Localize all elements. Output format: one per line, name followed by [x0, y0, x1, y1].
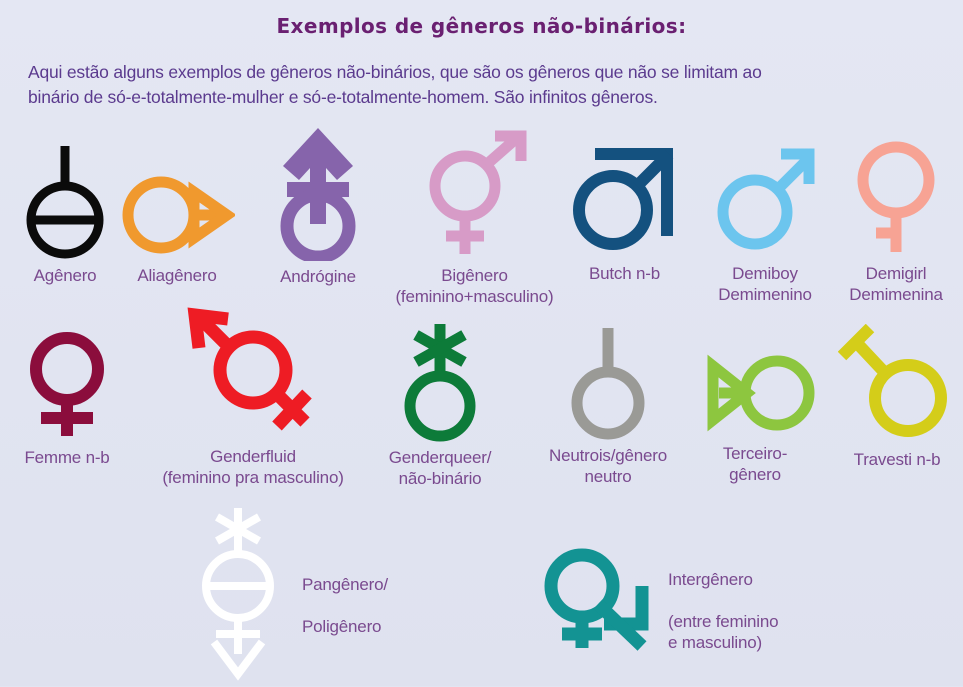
- gender-item-butch-nb: Butch n-b: [562, 140, 687, 284]
- gender-item-neutrois: Neutrois/gênero neutro: [528, 322, 688, 487]
- gender-sublabel-genderqueer: não-binário: [399, 468, 482, 489]
- gender-label-pangenero-line1: Pangênero/: [302, 575, 388, 594]
- gender-sublabel-demigirl: Demimenina: [849, 284, 942, 305]
- gender-item-demiboy: Demiboy Demimenino: [700, 140, 830, 305]
- infographic-page: Exemplos de gêneros não-binários: Aqui e…: [0, 0, 963, 686]
- gender-label-neutrois: Neutrois/gênero: [549, 445, 667, 466]
- gender-sublabel-neutrois: neutro: [584, 466, 631, 487]
- neutrois-symbol: [563, 322, 653, 445]
- gender-label-genderqueer: Genderqueer/: [389, 447, 492, 468]
- gender-item-genderqueer: Genderqueer/ não-binário: [370, 322, 510, 489]
- agender-symbol: [19, 140, 111, 265]
- femme-symbol: [22, 326, 112, 447]
- gender-label-demigirl: Demigirl: [866, 263, 927, 284]
- gender-label-intergenero-sub: (entre feminino e masculino): [668, 612, 778, 652]
- gender-label-femme-nb: Femme n-b: [24, 447, 109, 468]
- gender-item-terceiro-genero: Terceiro- gênero: [690, 340, 820, 485]
- gender-label-demiboy: Demiboy: [732, 263, 798, 284]
- gender-sublabel-bigenero: (feminino+masculino): [395, 286, 553, 307]
- page-title: Exemplos de gêneros não-binários:: [0, 14, 963, 38]
- intro-line-2: binário de só-e-totalmente-mulher e só-e…: [28, 85, 963, 110]
- genderfluid-symbol: [181, 306, 326, 446]
- gender-item-bigenero: Bigênero (feminino+masculino): [382, 128, 567, 307]
- androgyne-symbol: [265, 126, 371, 266]
- demiboy-symbol: [713, 140, 817, 263]
- genderqueer-symbol: [391, 322, 489, 447]
- gender-sublabel-demiboy: Demimenino: [718, 284, 811, 305]
- intro-line-1: Aqui estão alguns exemplos de gêneros nã…: [28, 60, 963, 85]
- gender-sublabel-terceiro-genero: gênero: [729, 464, 781, 485]
- gender-item-pangenero: Pangênero/ Poligênero: [186, 502, 388, 687]
- gender-label-aliagenero: Aliagênero: [137, 265, 216, 286]
- intro-paragraph: Aqui estão alguns exemplos de gêneros nã…: [28, 60, 963, 110]
- gender-item-travesti-nb: Travesti n-b: [832, 324, 962, 470]
- gender-item-genderfluid: Genderfluid (feminino pra masculino): [128, 306, 378, 488]
- travesti-symbol: [838, 324, 956, 449]
- bigender-symbol: [415, 128, 535, 265]
- gender-item-agenero: Agênero: [10, 140, 120, 286]
- pangender-symbol: [186, 502, 290, 687]
- gender-label-androgine: Andrógine: [280, 266, 356, 287]
- gender-label-agenero: Agênero: [34, 265, 97, 286]
- gender-label-travesti-nb: Travesti n-b: [854, 449, 941, 470]
- aliagender-symbol: [119, 160, 235, 265]
- gender-item-femme-nb: Femme n-b: [8, 326, 126, 468]
- gender-label-pangenero-line2: Poligênero: [302, 617, 381, 636]
- third-gender-symbol: [689, 340, 821, 443]
- gender-label-terceiro-genero: Terceiro-: [723, 443, 787, 464]
- demigirl-symbol: [850, 134, 942, 263]
- gender-label-intergenero: Intergênero (entre feminino e masculino): [668, 548, 778, 653]
- gender-label-genderfluid: Genderfluid: [210, 446, 296, 467]
- gender-label-pangenero: Pangênero/ Poligênero: [302, 553, 388, 637]
- gender-item-demigirl: Demigirl Demimenina: [832, 134, 960, 305]
- intergender-symbol: [536, 542, 656, 659]
- gender-label-bigenero: Bigênero: [441, 265, 507, 286]
- gender-label-intergenero-line1: Intergênero: [668, 570, 753, 589]
- gender-item-androgine: Andrógine: [258, 126, 378, 287]
- gender-sublabel-genderfluid: (feminino pra masculino): [162, 467, 343, 488]
- butch-symbol: [569, 140, 681, 263]
- gender-item-intergenero: Intergênero (entre feminino e masculino): [536, 542, 778, 659]
- gender-label-butch-nb: Butch n-b: [589, 263, 660, 284]
- gender-item-aliagenero: Aliagênero: [118, 160, 236, 286]
